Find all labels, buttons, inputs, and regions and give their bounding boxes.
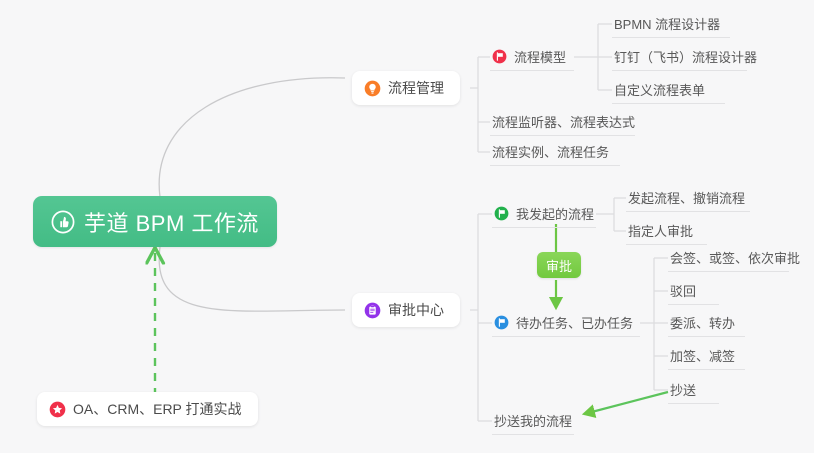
node-custom-form[interactable]: 自定义流程表单 xyxy=(612,76,725,104)
approval-flow-tag: 审批 xyxy=(537,252,581,278)
node-label: 自定义流程表单 xyxy=(614,80,705,99)
thumbs-up-circle-icon xyxy=(51,210,75,234)
node-process-model[interactable]: 流程模型 xyxy=(490,43,574,71)
node-assignee-approval[interactable]: 指定人审批 xyxy=(626,217,707,245)
node-label: 驳回 xyxy=(670,281,696,300)
node-label: 加签、减签 xyxy=(670,346,735,365)
flag-circle-icon xyxy=(494,315,509,330)
node-label: 抄送 xyxy=(670,380,696,399)
node-label: 抄送我的流程 xyxy=(494,411,572,430)
flag-circle-icon xyxy=(494,206,509,221)
node-label: 指定人审批 xyxy=(628,221,693,240)
node-my-started-processes[interactable]: 我发起的流程 xyxy=(492,200,596,228)
node-add-remove-sign[interactable]: 加签、减签 xyxy=(668,342,745,370)
note-node-label: OA、CRM、ERP 打通实战 xyxy=(73,399,242,419)
root-node-label: 芋道 BPM 工作流 xyxy=(84,206,259,238)
lightbulb-circle-icon xyxy=(364,80,381,97)
flag-circle-icon xyxy=(492,49,507,64)
branch-node-label: 审批中心 xyxy=(388,300,444,320)
link-root-to-branch2 xyxy=(159,247,345,311)
node-todo-done-tasks[interactable]: 待办任务、已办任务 xyxy=(492,309,640,337)
node-cc-to-me-processes[interactable]: 抄送我的流程 xyxy=(492,407,574,435)
node-label: 待办任务、已办任务 xyxy=(516,313,633,332)
node-countersign-approval[interactable]: 会签、或签、依次审批 xyxy=(668,244,789,272)
node-label: 流程实例、流程任务 xyxy=(492,142,609,161)
branch-node-approval-center[interactable]: 审批中心 xyxy=(352,293,460,327)
root-node[interactable]: 芋道 BPM 工作流 xyxy=(33,196,277,247)
node-label: 会签、或签、依次审批 xyxy=(670,248,800,267)
node-reject[interactable]: 驳回 xyxy=(668,277,719,305)
star-circle-icon xyxy=(49,401,66,418)
node-process-instance-task[interactable]: 流程实例、流程任务 xyxy=(490,138,620,166)
node-label: 我发起的流程 xyxy=(516,204,594,223)
node-label: 发起流程、撤销流程 xyxy=(628,188,745,207)
node-label: 钉钉（飞书）流程设计器 xyxy=(614,47,757,66)
node-label: 委派、转办 xyxy=(670,313,735,332)
node-delegate-transfer[interactable]: 委派、转办 xyxy=(668,309,745,337)
node-label: 流程监听器、流程表达式 xyxy=(492,112,635,131)
node-start-cancel-process[interactable]: 发起流程、撤销流程 xyxy=(626,184,750,212)
mindmap-canvas: 芋道 BPM 工作流 流程管理 流程模型 BPMN 流程设计器 钉钉（飞书 xyxy=(0,0,814,453)
node-cc[interactable]: 抄送 xyxy=(668,376,719,404)
node-dingtalk-designer[interactable]: 钉钉（飞书）流程设计器 xyxy=(612,43,747,71)
branch-node-process-management[interactable]: 流程管理 xyxy=(352,71,460,105)
link-root-to-branch1 xyxy=(159,78,345,197)
node-label: BPMN 流程设计器 xyxy=(614,14,720,33)
flow-arrow-cc-to-ccprocess xyxy=(584,392,668,414)
node-label: 流程模型 xyxy=(514,47,566,66)
node-process-listener-expression[interactable]: 流程监听器、流程表达式 xyxy=(490,108,635,136)
note-node-integration[interactable]: OA、CRM、ERP 打通实战 xyxy=(37,392,258,426)
node-bpmn-designer[interactable]: BPMN 流程设计器 xyxy=(612,10,730,38)
branch-node-label: 流程管理 xyxy=(388,78,444,98)
clipboard-circle-icon xyxy=(364,302,381,319)
approval-flow-tag-label: 审批 xyxy=(546,256,572,275)
